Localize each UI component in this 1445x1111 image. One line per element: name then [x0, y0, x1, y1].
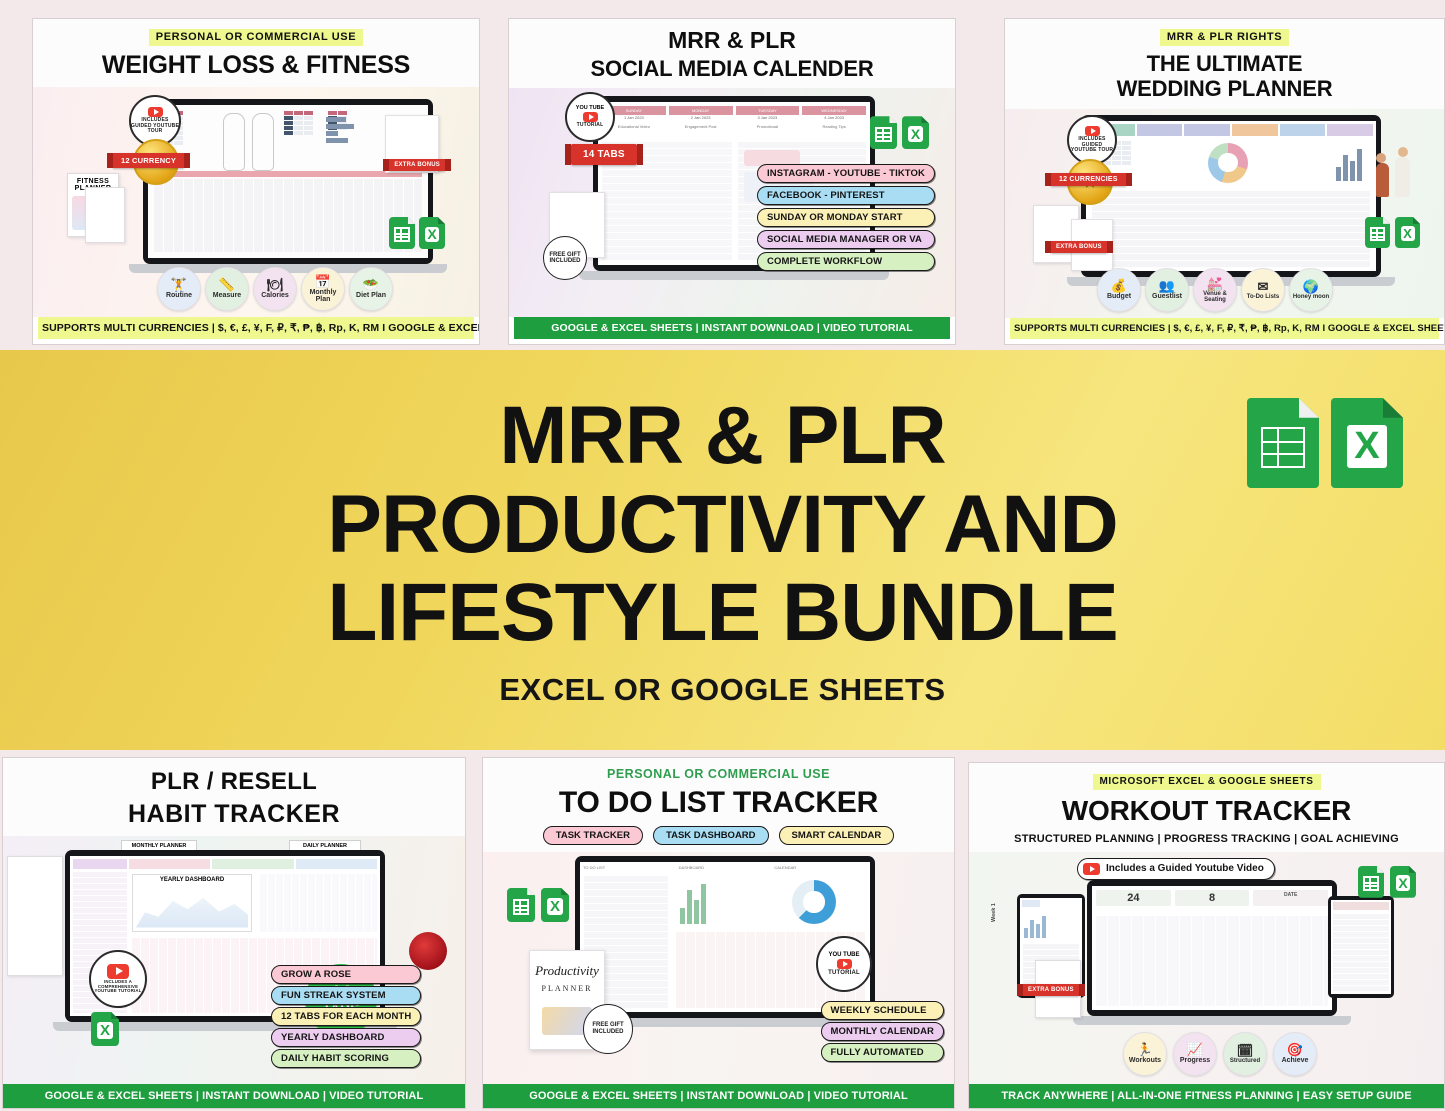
rose-icon — [409, 932, 447, 970]
top-pill-row: TASK TRACKER TASK DASHBOARD SMART CALEND… — [489, 826, 948, 845]
chip-workouts[interactable]: 🏃 Workouts — [1123, 1032, 1167, 1076]
chip-measure[interactable]: 📏 Measure — [205, 267, 249, 311]
google-sheets-icon — [389, 217, 415, 249]
youtube-icon — [837, 959, 852, 969]
excel-icon: X — [1390, 866, 1416, 898]
top-pill-task-dashboard[interactable]: TASK DASHBOARD — [653, 826, 769, 845]
stat-value: 8 — [1175, 892, 1250, 904]
banner-title: MRR & PLR PRODUCTIVITY AND LIFESTYLE BUN… — [327, 392, 1117, 658]
chip-progress[interactable]: 📈 Progress — [1173, 1032, 1217, 1076]
chip-label: Budget — [1107, 293, 1131, 300]
banner-title-line3: LIFESTYLE BUNDLE — [327, 569, 1117, 658]
calendar-icon: 📅 — [315, 275, 331, 288]
card-footer-banner: GOOGLE & EXCEL SHEETS | INSTANT DOWNLOAD… — [483, 1084, 954, 1108]
free-gift-badge: FREE GIFT INCLUDED — [583, 1004, 633, 1054]
badge-bottom-label: TUTORIAL — [577, 123, 604, 129]
card-preview: INCLUDES GUIDED YOUTUBE TOUR ★ 12 CURREN… — [1005, 109, 1444, 318]
youtube-tutorial-badge: YOU TUBE TUTORIAL — [816, 936, 872, 992]
salad-icon: 🥗 — [363, 278, 379, 291]
banner-subtitle: EXCEL OR GOOGLE SHEETS — [499, 672, 945, 708]
chip-honeymoon[interactable]: 🌍 Honey moon — [1289, 268, 1333, 312]
chip-label: Progress — [1180, 1057, 1210, 1064]
card-footer-banner: GOOGLE & EXCEL SHEETS | INSTANT DOWNLOAD… — [3, 1084, 465, 1108]
top-pill-task-tracker[interactable]: TASK TRACKER — [543, 826, 643, 845]
product-card-habit-tracker[interactable]: PLR / RESELL HABIT TRACKER MONTHLY PLANN… — [2, 757, 466, 1109]
feature-pill[interactable]: INSTAGRAM - YOUTUBE - TIKTOK — [757, 164, 935, 183]
label-daily-planner: DAILY PLANNER — [289, 840, 361, 851]
card-title: WEIGHT LOSS & FITNESS — [39, 52, 473, 80]
badge-top-label: YOU TUBE — [576, 105, 604, 111]
chip-label: Venue & Seating — [1194, 291, 1236, 304]
extra-bonus-ribbon: EXTRA BONUS — [1023, 984, 1079, 996]
badge-label: FREE GIFT INCLUDED — [584, 1022, 632, 1035]
badge-label: FREE GIFT INCLUDED — [544, 252, 586, 265]
product-card-weight-loss-fitness[interactable]: PERSONAL OR COMMERCIAL USE WEIGHT LOSS &… — [32, 18, 480, 345]
side-sheet-preview — [7, 856, 63, 976]
bride-groom-illustration — [1376, 141, 1410, 197]
excel-icon: X — [902, 116, 929, 149]
feature-pill-list: INSTAGRAM - YOUTUBE - TIKTOK FACEBOOK - … — [757, 164, 935, 271]
card-footer-banner: TRACK ANYWHERE | ALL-IN-ONE FITNESS PLAN… — [969, 1084, 1444, 1108]
feature-pill[interactable]: SUNDAY OR MONDAY START — [757, 208, 935, 227]
laptop-base — [579, 271, 889, 280]
card-subtitle: STRUCTURED PLANNING | PROGRESS TRACKING … — [975, 833, 1438, 845]
chip-label: Measure — [213, 292, 241, 299]
card-preview: MONTHLY PLANNER DAILY PLANNER YEARLY DAS… — [3, 836, 465, 1085]
banner-title-line1: MRR & PLR — [327, 392, 1117, 481]
card-eyebrow: MICROSOFT EXCEL & GOOGLE SHEETS — [1093, 774, 1321, 790]
card-header: MRR & PLR SOCIAL MEDIA CALENDER — [509, 19, 955, 88]
feature-pill[interactable]: COMPLETE WORKFLOW — [757, 252, 935, 271]
banner-app-icons: X — [1247, 398, 1403, 488]
youtube-icon — [1085, 126, 1100, 136]
laptop-mockup: 24 8 DATE — [1087, 880, 1337, 1016]
card-eyebrow: MRR & PLR — [515, 27, 949, 54]
product-card-social-media-calender[interactable]: MRR & PLR SOCIAL MEDIA CALENDER SUNDAY 1… — [508, 18, 956, 345]
youtube-guided-tour-badge: INCLUDES GUIDED YOUTUBE TOUR — [1067, 115, 1117, 165]
excel-icon: X — [1395, 217, 1420, 248]
youtube-icon — [148, 107, 163, 117]
card-title-line1: THE ULTIMATE — [1011, 51, 1438, 76]
card-header: PERSONAL OR COMMERCIAL USE TO DO LIST TR… — [483, 758, 954, 852]
product-card-wedding-planner[interactable]: MRR & PLR RIGHTS THE ULTIMATE WEDDING PL… — [1004, 18, 1445, 345]
stat-label-date: DATE — [1253, 890, 1328, 906]
google-sheets-icon — [1247, 398, 1319, 488]
chip-budget[interactable]: 💰 Budget — [1097, 268, 1141, 312]
chip-calories[interactable]: 🍽 Calories — [253, 267, 297, 311]
donut-chart — [1208, 143, 1248, 183]
card-eyebrow: PERSONAL OR COMMERCIAL USE — [149, 29, 363, 46]
card-title: SOCIAL MEDIA CALENDER — [515, 57, 949, 81]
feature-pill[interactable]: FACEBOOK - PINTEREST — [757, 186, 935, 205]
excel-icon: X — [541, 888, 569, 922]
card-preview: SUNDAY 1 Jan 2023 MONDAY 2 Jan 2023 TUES… — [509, 88, 955, 317]
feature-pill-list: WEEKLY SCHEDULE MONTHLY CALENDAR FULLY A… — [821, 1001, 944, 1062]
card-title: THE ULTIMATE WEDDING PLANNER — [1011, 51, 1438, 102]
laptop-mockup: TO DO LISTDASHBOARDCALENDAR — [575, 856, 875, 1018]
google-sheets-icon — [507, 888, 535, 922]
card-footer-banner: SUPPORTS MULTI CURRENCIES | $, €, £, ¥, … — [38, 317, 474, 339]
card-eyebrow: MRR & PLR RIGHTS — [1160, 29, 1289, 46]
feature-chips: 💰 Budget 👥 Guestlist 💒 Venue & Seating ✉… — [1097, 268, 1333, 312]
chip-label: Workouts — [1129, 1057, 1161, 1064]
planner-subtitle: PLANNER — [530, 984, 604, 993]
envelope-icon: ✉ — [1258, 280, 1269, 293]
chip-monthly-plan[interactable]: 📅 Monthly Plan — [301, 267, 345, 311]
food-icon: 🍽 — [267, 278, 284, 291]
chip-label: Structured — [1230, 1058, 1260, 1064]
excel-letter: X — [1347, 425, 1387, 468]
money-icon: 💰 — [1111, 279, 1127, 292]
chip-label: Guestlist — [1152, 293, 1182, 300]
card-title-line2: WEDDING PLANNER — [1011, 76, 1438, 101]
youtube-tutorial-badge: YOU TUBE TUTORIAL — [565, 92, 615, 142]
feature-pill[interactable]: 12 TABS FOR EACH MONTH — [271, 1007, 421, 1026]
excel-icon: X — [91, 1012, 119, 1046]
card-footer-banner: SUPPORTS MULTI CURRENCIES | $, €, £, ¥, … — [1010, 318, 1439, 339]
chip-label: To-Do Lists — [1247, 294, 1280, 300]
target-icon: 🎯 — [1287, 1043, 1303, 1056]
google-sheets-icon — [1358, 866, 1384, 898]
feature-pill[interactable]: DAILY HABIT SCORING — [271, 1049, 421, 1068]
extra-bonus-ribbon: EXTRA BONUS — [389, 159, 445, 171]
card-eyebrow: PLR / RESELL — [9, 768, 459, 796]
badge-label: INCLUDES GUIDED YOUTUBE TOUR — [131, 118, 179, 135]
tabs-ribbon: 14 TABS — [571, 144, 637, 165]
chip-achieve[interactable]: 🎯 Achieve — [1273, 1032, 1317, 1076]
dumbbell-icon: 🏋 — [171, 278, 187, 291]
globe-icon: 🌍 — [1303, 280, 1319, 293]
laptop-base — [1073, 1016, 1351, 1025]
badge-label: INCLUDES GUIDED YOUTUBE TOUR — [1069, 137, 1115, 154]
runner-icon: 🏃 — [1137, 1043, 1153, 1056]
feature-pill[interactable]: MONTHLY CALENDAR — [821, 1022, 944, 1041]
chip-venue-seating[interactable]: 💒 Venue & Seating — [1193, 268, 1237, 312]
currency-ribbon: 12 CURRENCY — [113, 153, 184, 168]
feature-chips: 🏃 Workouts 📈 Progress 🗓 Structured 🎯 Ach… — [1123, 1032, 1317, 1076]
chip-structured[interactable]: 🗓 Structured — [1223, 1032, 1267, 1076]
chip-label: Honey moon — [1293, 294, 1329, 300]
pill-label: Includes a Guided Youtube Video — [1106, 863, 1264, 874]
chart-icon: 📈 — [1187, 1043, 1203, 1056]
stat-value: 24 — [1096, 892, 1171, 904]
product-card-to-do-list-tracker[interactable]: PERSONAL OR COMMERCIAL USE TO DO LIST TR… — [482, 757, 955, 1109]
chip-guestlist[interactable]: 👥 Guestlist — [1145, 268, 1189, 312]
tablet-mockup-right — [1328, 896, 1394, 998]
main-banner: MRR & PLR PRODUCTIVITY AND LIFESTYLE BUN… — [0, 350, 1445, 750]
card-header: MRR & PLR RIGHTS THE ULTIMATE WEDDING PL… — [1005, 19, 1444, 109]
people-icon: 👥 — [1159, 279, 1175, 292]
donut-chart — [792, 880, 836, 924]
extra-bonus-ribbon: EXTRA BONUS — [1051, 241, 1107, 253]
youtube-video-pill[interactable]: Includes a Guided Youtube Video — [1077, 858, 1275, 880]
google-sheets-icon — [1365, 217, 1390, 248]
card-preview: TO DO LISTDASHBOARDCALENDAR — [483, 852, 954, 1084]
chip-label: Calories — [261, 292, 289, 299]
label-monthly-planner: MONTHLY PLANNER — [121, 840, 197, 851]
chip-label: Routine — [166, 292, 192, 299]
badge-bottom-label: TUTORIAL — [828, 970, 860, 977]
chip-label: Achieve — [1282, 1057, 1309, 1064]
banner-title-line2: PRODUCTIVITY AND — [327, 481, 1117, 570]
card-title: TO DO LIST TRACKER — [489, 786, 948, 819]
venue-icon: 💒 — [1207, 277, 1223, 290]
excel-icon: X — [1331, 398, 1403, 488]
week-label: Week 1 — [991, 903, 997, 922]
card-header: MICROSOFT EXCEL & GOOGLE SHEETS WORKOUT … — [969, 763, 1444, 852]
product-bundle-collage: PERSONAL OR COMMERCIAL USE WEIGHT LOSS &… — [0, 0, 1445, 1111]
badge-top-label: YOU TUBE — [828, 952, 859, 958]
feature-pill[interactable]: SOCIAL MEDIA MANAGER OR VA — [757, 230, 935, 249]
feature-pill[interactable]: FULLY AUTOMATED — [821, 1043, 944, 1062]
badge-label: INCLUDES A COMPREHENSIVE YOUTUBE TUTORIA… — [91, 980, 145, 994]
youtube-icon — [107, 964, 129, 979]
free-gift-badge: FREE GIFT INCLUDED — [543, 236, 587, 280]
chip-todo-lists[interactable]: ✉ To-Do Lists — [1241, 268, 1285, 312]
product-card-workout-tracker[interactable]: MICROSOFT EXCEL & GOOGLE SHEETS WORKOUT … — [968, 762, 1445, 1109]
ruler-icon: 📏 — [219, 278, 235, 291]
top-pill-smart-calendar[interactable]: SMART CALENDAR — [779, 826, 895, 845]
youtube-icon — [1083, 863, 1100, 875]
card-title: WORKOUT TRACKER — [975, 796, 1438, 827]
card-footer-banner: GOOGLE & EXCEL SHEETS | INSTANT DOWNLOAD… — [514, 317, 950, 339]
chip-label: Diet Plan — [356, 292, 386, 299]
card-preview: Includes a Guided Youtube Video 24 8 DAT… — [969, 852, 1444, 1084]
feature-pill[interactable]: YEARLY DASHBOARD — [271, 1028, 421, 1047]
planner-title: Productivity — [530, 963, 604, 979]
card-header: PERSONAL OR COMMERCIAL USE WEIGHT LOSS &… — [33, 19, 479, 87]
feature-pill[interactable]: GROW A ROSE — [271, 965, 421, 984]
feature-pill[interactable]: WEEKLY SCHEDULE — [821, 1001, 944, 1020]
feature-pill[interactable]: FUN STREAK SYSTEM — [271, 986, 421, 1005]
card-header: PLR / RESELL HABIT TRACKER — [3, 758, 465, 836]
chip-label: Monthly Plan — [302, 289, 344, 304]
card-title: HABIT TRACKER — [9, 801, 459, 829]
feature-chips: 🏋 Routine 📏 Measure 🍽 Calories 📅 Monthly… — [157, 267, 393, 311]
card-preview: INCLUDES GUIDED YOUTUBE TOUR ★ 12 CURREN… — [33, 87, 479, 318]
chip-routine[interactable]: 🏋 Routine — [157, 267, 201, 311]
feature-pill-list: GROW A ROSE FUN STREAK SYSTEM 12 TABS FO… — [271, 965, 421, 1068]
google-sheets-icon — [870, 116, 897, 149]
currency-ribbon: 12 CURRENCIES — [1051, 173, 1126, 186]
card-eyebrow: PERSONAL OR COMMERCIAL USE — [489, 767, 948, 781]
calendar-grid-icon: 🗓 — [1237, 1044, 1254, 1057]
chip-diet-plan[interactable]: 🥗 Diet Plan — [349, 267, 393, 311]
excel-icon: X — [419, 217, 445, 249]
youtube-icon — [583, 112, 598, 122]
laptop-mockup — [1081, 115, 1381, 277]
youtube-tutorial-badge: INCLUDES A COMPREHENSIVE YOUTUBE TUTORIA… — [89, 950, 147, 1008]
